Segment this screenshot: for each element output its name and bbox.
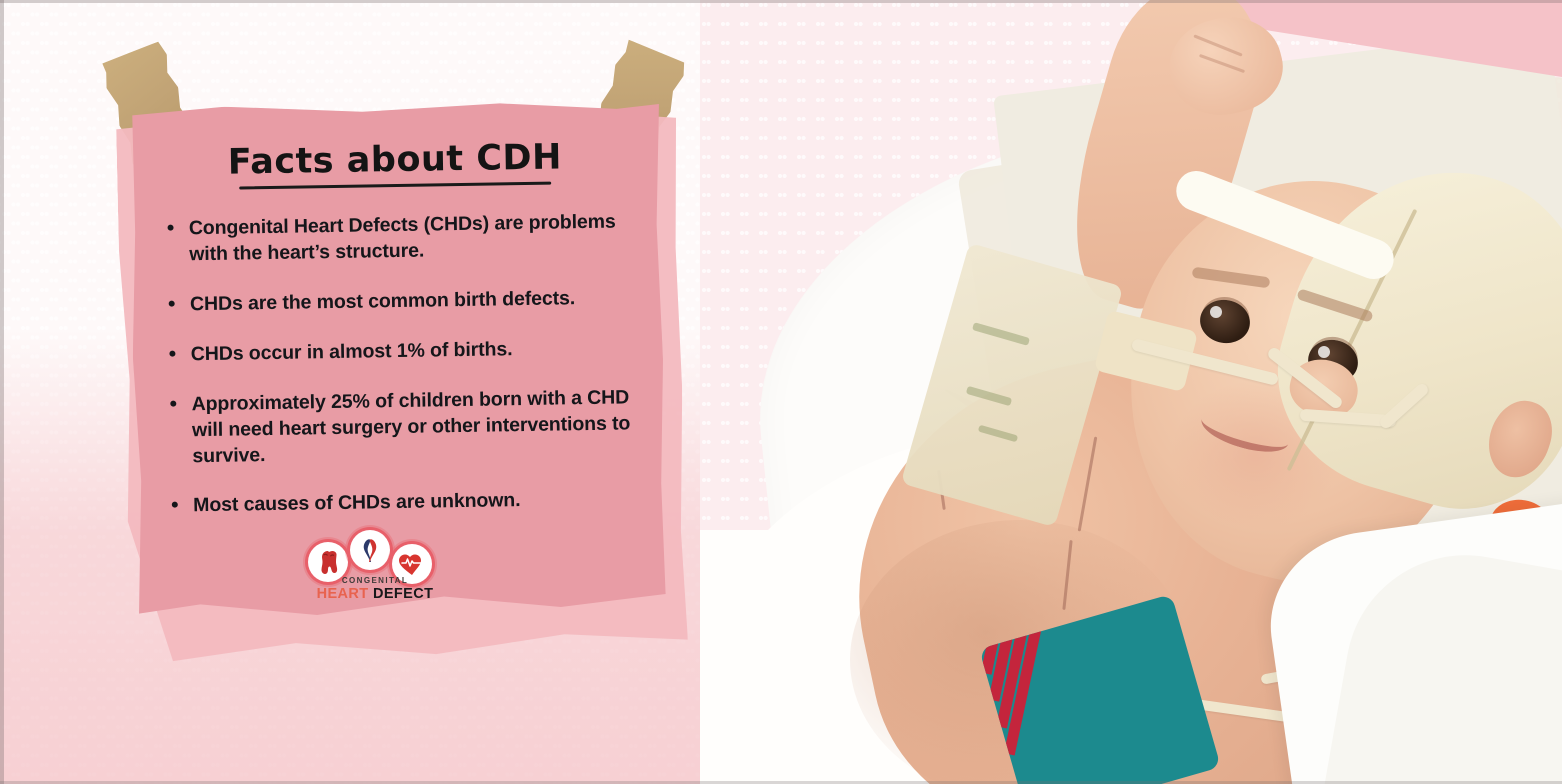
logo-line-heart-defect: HEART DEFECT xyxy=(300,586,450,602)
facts-list: Congenital Heart Defects (CHDs) are prob… xyxy=(161,209,636,520)
list-item: Congenital Heart Defects (CHDs) are prob… xyxy=(161,209,632,268)
logo-word-defect: DEFECT xyxy=(373,586,433,602)
eye-highlight xyxy=(1210,306,1222,318)
logo-line-congenital: CONGENITAL xyxy=(300,576,450,585)
eye-highlight xyxy=(1318,346,1330,358)
awareness-ribbon-icon xyxy=(350,530,390,570)
poster-canvas: Facts about CDH Congenital Heart Defects… xyxy=(0,0,1562,784)
page-title: Facts about CDH xyxy=(160,136,631,183)
list-item: CHDs are the most common birth defects. xyxy=(162,285,632,318)
baby-photo xyxy=(700,0,1562,784)
canvas-left-edge xyxy=(0,0,4,784)
logo-word-heart: HEART xyxy=(317,586,369,602)
canvas-top-edge xyxy=(0,0,1562,3)
list-item: Most causes of CHDs are unknown. xyxy=(165,487,635,520)
title-underline xyxy=(239,182,551,190)
list-item: Approximately 25% of children born with … xyxy=(163,385,634,470)
list-item: CHDs occur in almost 1% of births. xyxy=(163,335,633,368)
chd-awareness-logo: CONGENITAL HEART DEFECT xyxy=(300,530,450,608)
